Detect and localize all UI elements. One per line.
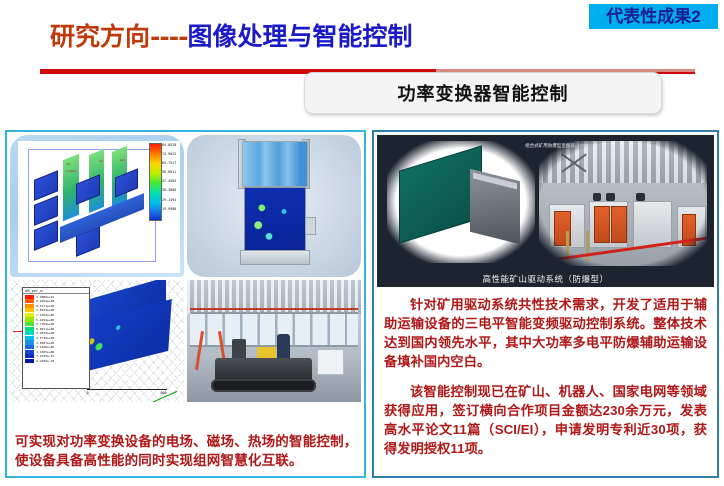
colorbar-tick: 29.1494 [162,196,180,205]
colorbar-tick: 74.9022 [162,150,180,159]
figure-caption: 高性能矿山驱动系统（防爆型） [377,273,714,285]
colorbar-em-value: 2.8587e+00 [36,341,54,345]
colorbar-em-value: 7.8254e+00 [36,308,54,312]
figure-mine-drive-system: 组合式矿用防爆型变频器（3300V/2200kW） 高性能矿山驱动系统（防爆型） [377,135,714,287]
page-title-separator: ---- [150,22,188,51]
colorbar-tick: 47.4505 [162,177,180,186]
subtitle-banner: 功率变换器智能控制 [304,72,662,114]
colorbar-tick: 56.6011 [162,168,180,177]
colorbar-em-value: 1.4305e+00 [36,350,54,354]
colorbar-em-value: 5.4294e+00 [36,318,54,322]
colorbar-em-value: 7.1635e-01 [36,354,54,358]
colorbar-tick: 84.0528 [162,141,180,150]
colorbar-em-value: 7.1565e+00 [36,313,54,317]
colorbar-em-value: 8.5171e+00 [36,304,54,308]
colorbar-em-value: 1.3000e+01 [36,295,54,299]
axis-tick-label: 600 [160,391,166,395]
figure-fea-thermal-simulation: A7 4.132.1 A3 A11 84.0528 74.9022 65.751… [10,135,184,277]
colorbar-em-value: 9.2694e+00 [36,299,54,303]
paragraph: 针对矿用驱动系统共性技术需求，开发了适用于辅助运输设备的三电平智能变频驱动控制系… [384,295,707,372]
figure-converter-cabinet-thermal [187,135,361,277]
page-title: 研究方向----图像处理与智能控制 [50,24,413,49]
colorbar-em-value: 5.0011e+00 [36,327,54,331]
colorbar-em-value: 2.1446e+00 [36,345,54,349]
colorbar-tick: 38.3000 [162,186,180,195]
colorbar-em-value: 5.7152e+00 [36,322,54,326]
colorbar-tick-labels: 84.0528 74.9022 65.7517 56.6011 47.4505 … [162,141,180,221]
right-content-panel: 组合式矿用防爆型变频器（3300V/2200kW） 高性能矿山驱动系统（防爆型）… [372,130,719,478]
colorbar-em-field: dB_per_m 1.3000e+01 9.2694e+00 8.5171e+0… [22,287,90,389]
figure-pcb-em-field-simulation: dB_per_m 1.3000e+01 9.2694e+00 8.5171e+0… [10,280,184,402]
colorbar-thermal [149,143,162,221]
page-title-primary: 研究方向 [50,22,150,51]
left-content-panel: A7 4.132.1 A3 A11 84.0528 74.9022 65.751… [5,130,366,478]
badge-label: 代表性成果2 [606,8,700,25]
colorbar-em-value: 3.5729e+00 [36,336,54,340]
colorbar-tick: 19.9988 [162,205,180,214]
paragraph: 该智能控制现已在矿山、机器人、国家电网等领域获得应用，签订横向合作项目金额达23… [384,382,707,459]
axis-tick-label: 0 [87,391,89,395]
colorbar-em-value: 4.2870e+00 [36,331,54,335]
colorbar-em-value: 2.2250e-03 [36,359,54,363]
subtitle-label: 功率变换器智能控制 [398,80,569,106]
colorbar-tick: 65.7517 [162,159,180,168]
figure-tracked-robot-photo [187,280,361,402]
left-image-grid: A7 4.132.1 A3 A11 84.0528 74.9022 65.751… [10,135,361,405]
page-title-secondary: 图像处理与智能控制 [188,22,413,51]
left-panel-caption: 可实现对功率变换设备的电场、磁场、热场的智能控制，使设备具备高性能的同时实现组网… [15,432,358,470]
right-panel-text: 针对矿用驱动系统共性技术需求，开发了适用于辅助运输设备的三电平智能变频驱动控制系… [377,287,714,458]
status-badge: 代表性成果2 [589,4,718,29]
figure-axis-scale: 0 600 [87,389,167,397]
